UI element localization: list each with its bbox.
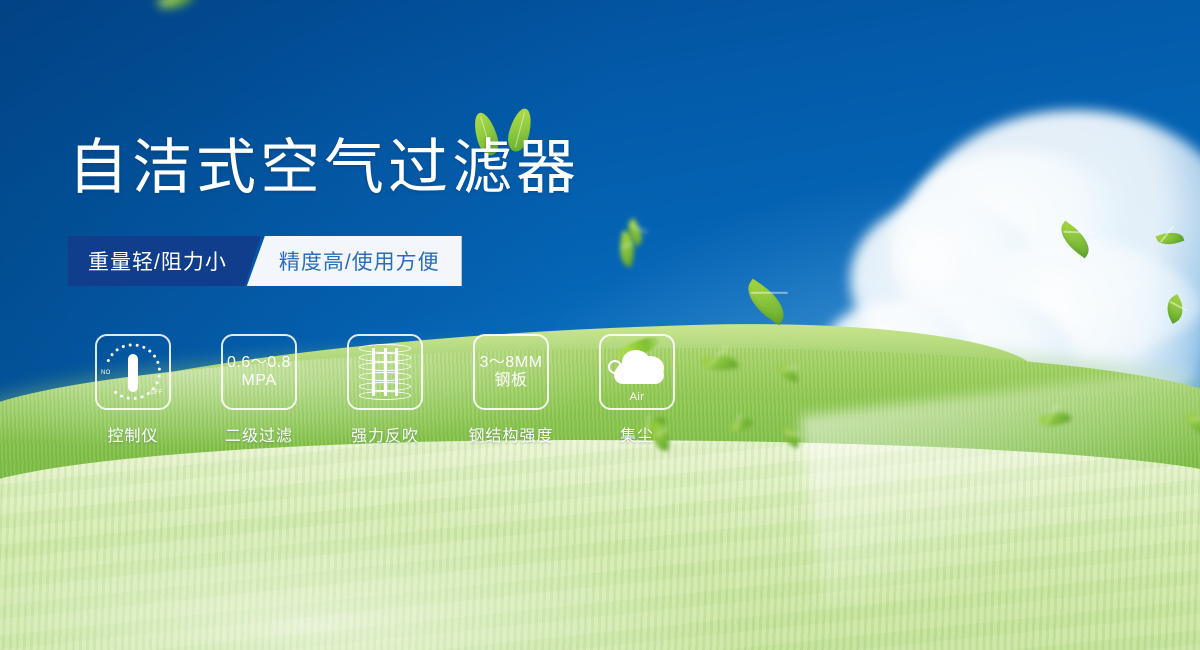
gauge-icon: NO OFF [102,341,164,403]
feature-label: 集尘 [620,422,654,446]
steel-plate-text-icon: 3〜8MM 钢板 [480,354,543,390]
feature-label: 二级过滤 [225,422,293,446]
subtitle-bar: 重量轻/阻力小 精度高/使用方便 [68,236,462,286]
feature-icon-box: Air [599,334,675,410]
feature-item[interactable]: 强力反吹 [322,334,448,446]
air-swirl-icon [608,360,622,374]
page-title: 自洁式空气过滤器 [68,138,580,198]
product-hero-banner: 自洁式空气过滤器 重量轻/阻力小 精度高/使用方便 [0,0,1200,650]
gauge-needle [128,354,138,392]
gauge-label-no: NO [101,370,111,376]
feature-item[interactable]: NO OFF 控制仪 [70,334,196,446]
feature-icon-box: 3〜8MM 钢板 [473,334,549,410]
subtitle-left-badge: 重量轻/阻力小 [68,236,261,286]
feature-icon-box: 0.6〜0.8 MPA [221,334,297,410]
feature-icon-box [347,334,423,410]
gauge-label-off: OFF [150,390,163,396]
feature-item[interactable]: 0.6〜0.8 MPA 二级过滤 [196,334,322,446]
filter-cartridge-icon [359,344,411,400]
feature-label: 控制仪 [107,422,158,446]
pressure-text-icon: 0.6〜0.8 MPA [227,354,291,390]
steel-material: 钢板 [480,372,543,390]
feature-label: 强力反吹 [351,422,419,446]
air-label: Air [606,391,668,403]
air-cloud-icon: Air [606,342,668,402]
feature-icon-box: NO OFF [95,334,171,410]
feature-label: 钢结构强度 [468,422,553,446]
steel-thickness: 3〜8MM [480,354,543,372]
pressure-value: 0.6〜0.8 [227,354,291,372]
pressure-unit: MPA [227,372,291,390]
feature-item[interactable]: 3〜8MM 钢板 钢结构强度 [448,334,574,446]
feature-list: NO OFF 控制仪 0.6〜0.8 MPA 二级过滤 [70,334,700,446]
subtitle-right-badge: 精度高/使用方便 [247,236,462,286]
feature-item[interactable]: Air 集尘 [574,334,700,446]
